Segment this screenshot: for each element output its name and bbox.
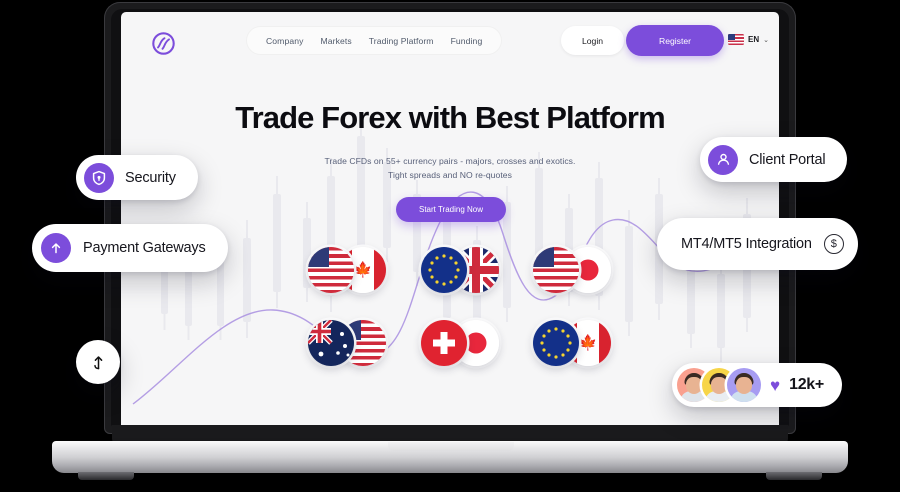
nav-link-trading-platform[interactable]: Trading Platform: [369, 36, 434, 46]
chevron-down-icon: ⌄: [763, 36, 769, 44]
nav-link-funding[interactable]: Funding: [451, 36, 483, 46]
flag-eu-icon: [533, 320, 579, 366]
login-button[interactable]: Login: [561, 26, 624, 55]
badge-social-proof[interactable]: ♥ 12k+: [672, 363, 842, 407]
badge-client-portal-label: Client Portal: [749, 152, 825, 168]
nav-links-pill: Company Markets Trading Platform Funding: [246, 26, 502, 55]
currency-pair-eur-gbp[interactable]: [421, 247, 499, 293]
screenshot-stage: Company Markets Trading Platform Funding…: [0, 0, 900, 492]
laptop-foot-left: [78, 472, 134, 480]
shield-icon: [84, 163, 114, 193]
badge-security[interactable]: Security: [76, 155, 198, 200]
navbar: Company Markets Trading Platform Funding…: [121, 12, 779, 72]
badge-payment-gateways[interactable]: Payment Gateways: [32, 224, 228, 272]
scroll-to-top-button[interactable]: [76, 340, 120, 384]
arrow-up-circle-icon: [41, 233, 71, 263]
heart-icon: ♥: [770, 377, 780, 394]
laptop-base-notch: [388, 442, 514, 451]
flag-au-icon: [308, 320, 354, 366]
start-trading-button[interactable]: Start Trading Now: [396, 197, 506, 222]
currency-pair-usd-jpy[interactable]: [533, 247, 611, 293]
badge-client-portal[interactable]: Client Portal: [700, 137, 847, 182]
badge-mt-integration[interactable]: MT4/MT5 Integration $: [657, 218, 858, 270]
language-selector[interactable]: EN ⌄: [728, 34, 769, 45]
social-proof-count: 12k+: [789, 376, 824, 394]
language-code: EN: [748, 35, 759, 44]
hero-subtitle-line-2: Tight spreads and NO re-quotes: [121, 170, 779, 180]
avatar-group: [677, 368, 761, 402]
badge-mt-integration-label: MT4/MT5 Integration: [681, 236, 812, 252]
flag-us-icon: [308, 247, 354, 293]
flag-ch-icon: [421, 320, 467, 366]
flag-eu-icon: [421, 247, 467, 293]
users-icon: [708, 145, 738, 175]
curved-arrow-up-icon: [88, 352, 108, 372]
register-button[interactable]: Register: [626, 25, 724, 56]
nav-link-markets[interactable]: Markets: [320, 36, 351, 46]
currency-pair-eur-cad[interactable]: 🍁: [533, 320, 611, 366]
currency-pair-chf-jpy[interactable]: [421, 320, 499, 366]
hero-subtitle-line-1: Trade CFDs on 55+ currency pairs - major…: [121, 156, 779, 166]
currency-pair-usd-cad[interactable]: 🍁: [308, 247, 386, 293]
currency-pair-aud-usd[interactable]: [308, 320, 386, 366]
laptop-foot-right: [766, 472, 822, 480]
page-title: Trade Forex with Best Platform: [121, 100, 779, 136]
avatar: [727, 368, 761, 402]
badge-payment-gateways-label: Payment Gateways: [83, 240, 206, 256]
flag-us-icon: [533, 247, 579, 293]
flag-us-icon: [728, 34, 744, 45]
dollar-circle-icon: $: [824, 234, 844, 254]
brand-logo-icon[interactable]: [151, 31, 176, 56]
badge-security-label: Security: [125, 170, 176, 186]
nav-link-company[interactable]: Company: [266, 36, 303, 46]
